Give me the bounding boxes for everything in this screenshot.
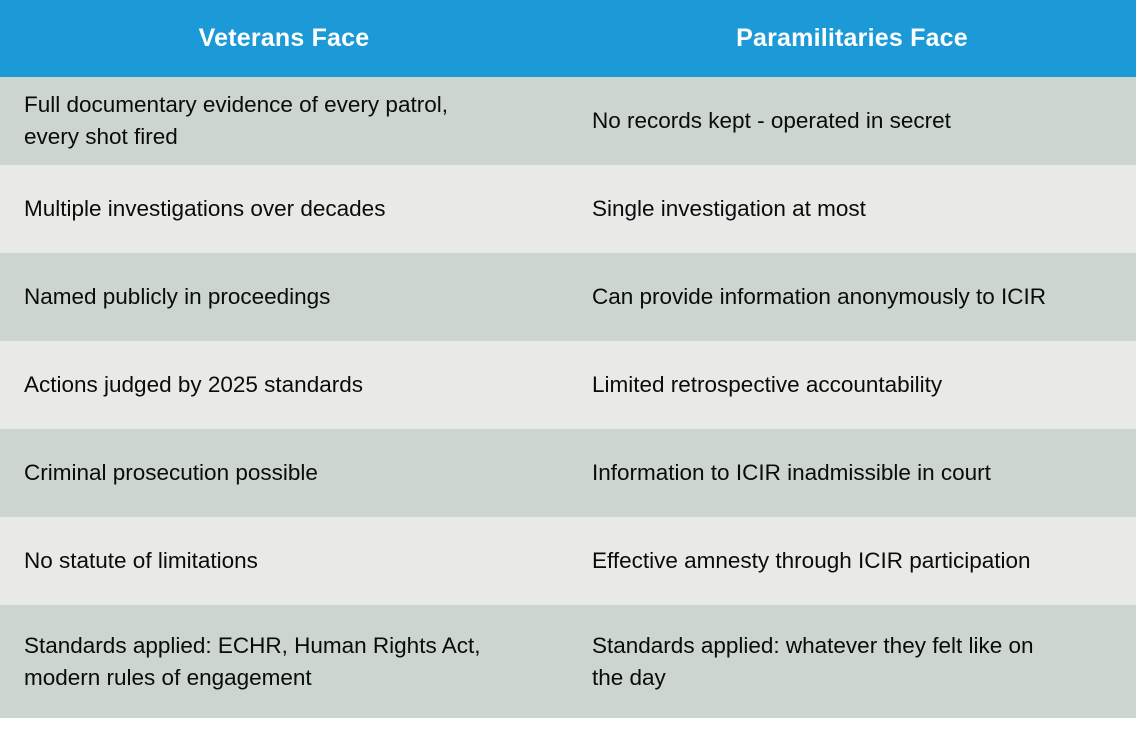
cell-veterans-text: Standards applied: ECHR, Human Rights Ac…: [24, 630, 480, 694]
cell-paramilitaries: Single investigation at most: [568, 165, 1136, 253]
cell-paramilitaries: Limited retrospective accountability: [568, 341, 1136, 429]
cell-veterans: No statute of limitations: [0, 517, 568, 605]
cell-paramilitaries: Standards applied: whatever they felt li…: [568, 605, 1136, 718]
column-header-paramilitaries-label: Paramilitaries Face: [736, 23, 968, 53]
cell-paramilitaries: Information to ICIR inadmissible in cour…: [568, 429, 1136, 517]
cell-veterans-text: Full documentary evidence of every patro…: [24, 89, 448, 153]
cell-veterans-text: No statute of limitations: [24, 545, 258, 577]
cell-veterans-text: Multiple investigations over decades: [24, 193, 385, 225]
table-body: Full documentary evidence of every patro…: [0, 77, 1136, 744]
cell-paramilitaries-text: No records kept - operated in secret: [592, 105, 951, 137]
cell-veterans: Named publicly in proceedings: [0, 253, 568, 341]
cell-veterans: Standards applied: ECHR, Human Rights Ac…: [0, 605, 568, 718]
cell-paramilitaries-text: Can provide information anonymously to I…: [592, 281, 1046, 313]
table-row: Criminal prosecution possible Informatio…: [0, 429, 1136, 517]
cell-paramilitaries-text: Limited retrospective accountability: [592, 369, 942, 401]
cell-veterans-text: Actions judged by 2025 standards: [24, 369, 363, 401]
column-header-veterans: Veterans Face: [0, 0, 568, 77]
cell-paramilitaries: Effective amnesty through ICIR participa…: [568, 517, 1136, 605]
column-header-veterans-label: Veterans Face: [199, 23, 370, 53]
cell-paramilitaries-text: Standards applied: whatever they felt li…: [592, 630, 1034, 694]
column-header-paramilitaries: Paramilitaries Face: [568, 0, 1136, 77]
cell-veterans-text: Criminal prosecution possible: [24, 457, 318, 489]
cell-veterans: Criminal prosecution possible: [0, 429, 568, 517]
comparison-table: Veterans Face Paramilitaries Face Full d…: [0, 0, 1136, 744]
cell-paramilitaries-text: Single investigation at most: [592, 193, 866, 225]
table-row: No statute of limitations Effective amne…: [0, 517, 1136, 605]
cell-paramilitaries-text: Effective amnesty through ICIR participa…: [592, 545, 1031, 577]
table-header-row: Veterans Face Paramilitaries Face: [0, 0, 1136, 77]
table-row: Standards applied: ECHR, Human Rights Ac…: [0, 605, 1136, 718]
table-row: Named publicly in proceedings Can provid…: [0, 253, 1136, 341]
cell-paramilitaries: No records kept - operated in secret: [568, 77, 1136, 165]
table-row: Full documentary evidence of every patro…: [0, 77, 1136, 165]
cell-veterans: Actions judged by 2025 standards: [0, 341, 568, 429]
cell-paramilitaries: Can provide information anonymously to I…: [568, 253, 1136, 341]
cell-veterans: Full documentary evidence of every patro…: [0, 77, 568, 165]
cell-veterans-text: Named publicly in proceedings: [24, 281, 330, 313]
cell-veterans: Multiple investigations over decades: [0, 165, 568, 253]
table-row: Multiple investigations over decades Sin…: [0, 165, 1136, 253]
cell-paramilitaries-text: Information to ICIR inadmissible in cour…: [592, 457, 991, 489]
table-row: Actions judged by 2025 standards Limited…: [0, 341, 1136, 429]
